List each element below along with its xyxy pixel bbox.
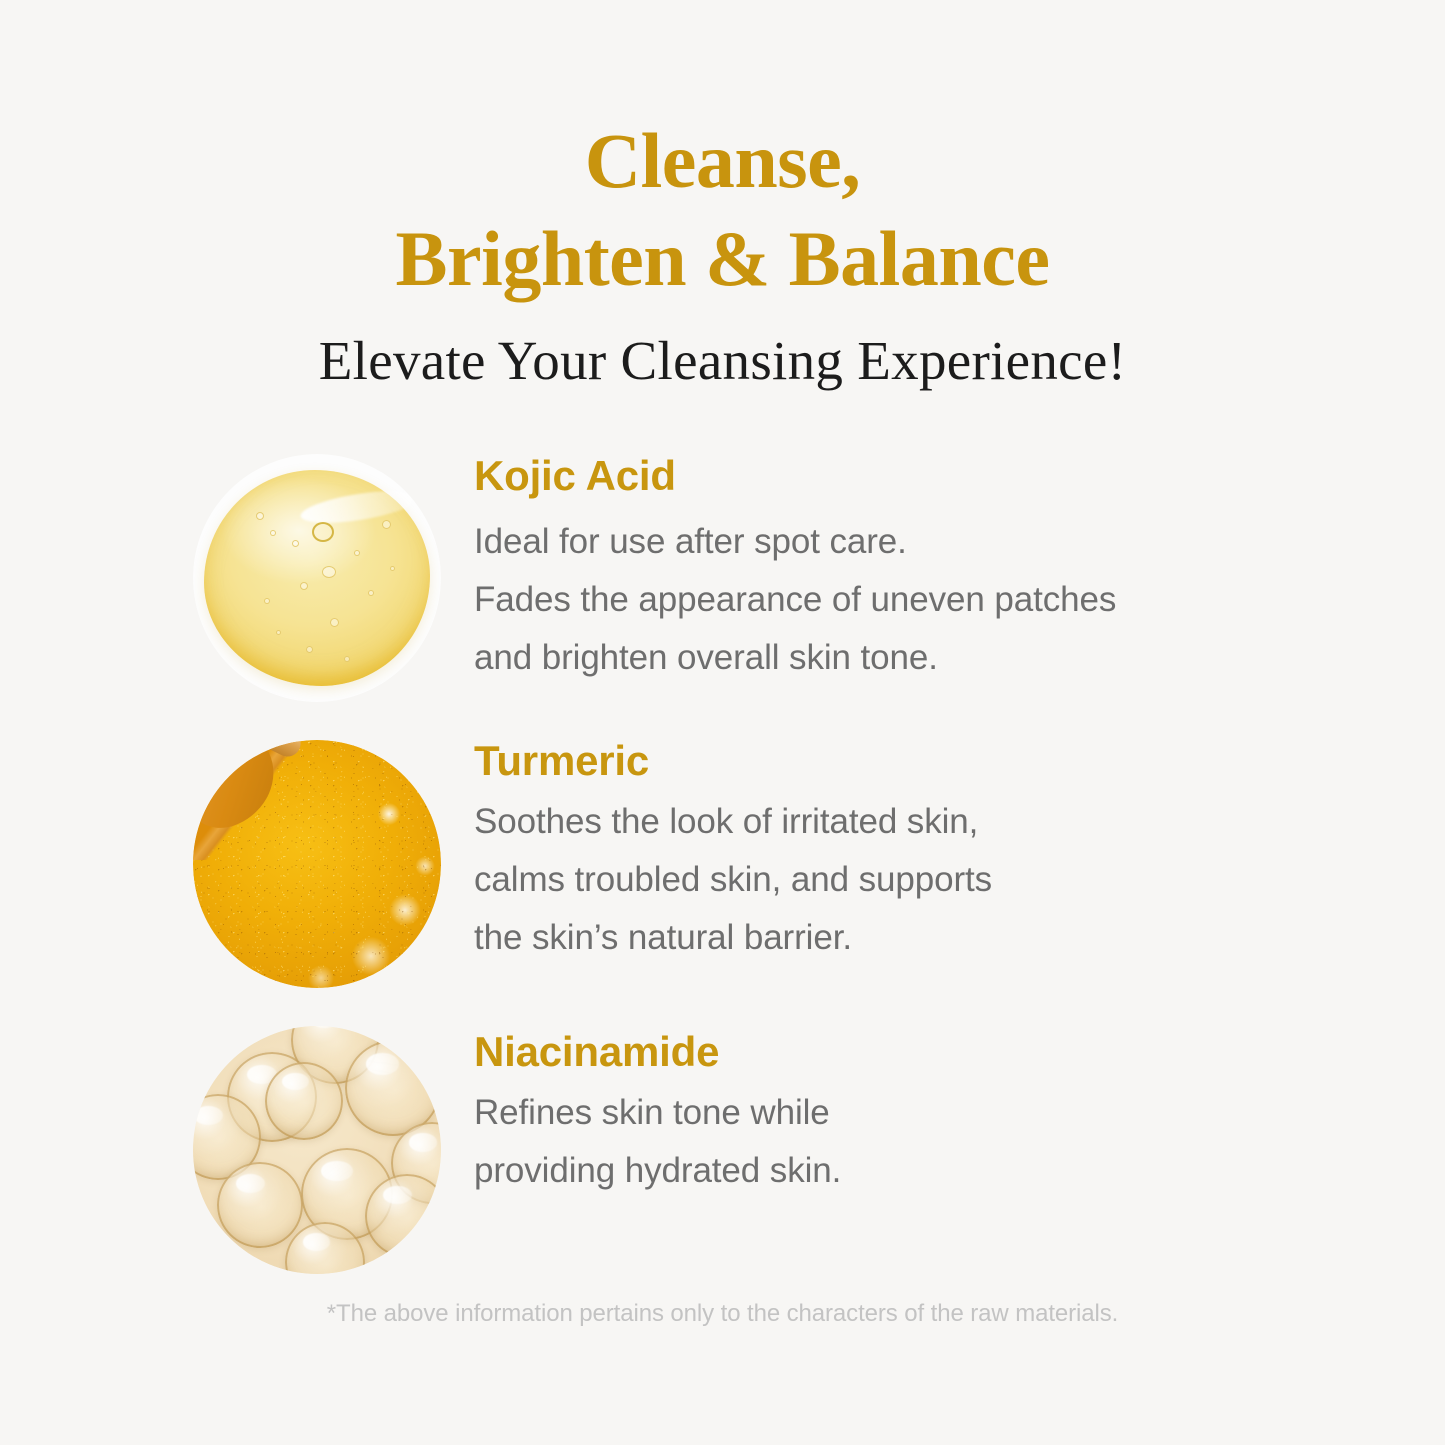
- niacinamide-text-block: Niacinamide Refines skin tone while prov…: [474, 1028, 1304, 1200]
- gel-bubble-icon: [330, 618, 339, 627]
- header-block: Cleanse, Brighten & Balance Elevate Your…: [0, 112, 1445, 391]
- description-line: calms troubled skin, and supports: [474, 851, 1304, 909]
- gel-bubble-icon: [390, 566, 395, 571]
- gel-bubble-icon: [354, 550, 360, 556]
- gel-bubble-icon: [300, 582, 308, 590]
- description-line: and brighten overall skin tone.: [474, 629, 1304, 687]
- gel-bubble-icon: [382, 520, 391, 529]
- kojic-acid-thumb-wrapper: [193, 454, 441, 702]
- description-line: Refines skin tone while: [474, 1084, 1304, 1142]
- gel-blob-shape: [204, 470, 430, 686]
- gel-bubble-icon: [312, 522, 334, 542]
- gel-bubble-icon: [368, 590, 374, 596]
- spoon-bowl: [193, 740, 290, 840]
- gel-bubble-icon: [276, 630, 281, 635]
- ingredient-description-kojic-acid: Ideal for use after spot care. Fades the…: [474, 513, 1304, 687]
- description-line: the skin’s natural barrier.: [474, 909, 1304, 967]
- niacinamide-thumb-wrapper: [193, 1026, 441, 1274]
- ingredient-description-turmeric: Soothes the look of irritated skin, calm…: [474, 793, 1304, 967]
- ingredient-name-kojic-acid: Kojic Acid: [474, 452, 1304, 500]
- gel-bubble-icon: [256, 512, 264, 520]
- gel-bubble-icon: [322, 566, 336, 578]
- gel-bubble-icon: [270, 530, 276, 536]
- kojic-acid-gel-swatch-image: [193, 454, 441, 702]
- description-line: providing hydrated skin.: [474, 1142, 1304, 1200]
- niacinamide-capsules-image: [193, 1026, 441, 1274]
- turmeric-text-block: Turmeric Soothes the look of irritated s…: [474, 737, 1304, 967]
- infographic-page: Cleanse, Brighten & Balance Elevate Your…: [0, 0, 1445, 1445]
- gel-bubble-icon: [292, 540, 299, 547]
- ingredient-row-turmeric: Turmeric Soothes the look of irritated s…: [0, 728, 1445, 1018]
- ingredient-row-kojic-acid: Kojic Acid Ideal for use after spot care…: [0, 440, 1445, 728]
- description-line: Soothes the look of irritated skin,: [474, 793, 1304, 851]
- ingredient-description-niacinamide: Refines skin tone while providing hydrat…: [474, 1084, 1304, 1200]
- footnote-disclaimer: *The above information pertains only to …: [0, 1300, 1445, 1328]
- gel-bubble-icon: [306, 646, 313, 653]
- turmeric-powder-image: [193, 740, 441, 988]
- description-line: Fades the appearance of uneven patches: [474, 571, 1304, 629]
- headline-line-1: Cleanse,: [0, 112, 1445, 210]
- ingredient-row-niacinamide: Niacinamide Refines skin tone while prov…: [0, 1018, 1445, 1268]
- capsule-sphere-icon: [365, 1174, 441, 1258]
- ingredient-name-turmeric: Turmeric: [474, 737, 1304, 785]
- turmeric-thumb-wrapper: [193, 740, 441, 988]
- subheadline: Elevate Your Cleansing Experience!: [0, 331, 1445, 391]
- wooden-spoon-icon: [193, 740, 309, 860]
- capsule-sphere-icon: [265, 1062, 343, 1140]
- capsule-sphere-icon: [217, 1162, 303, 1248]
- gel-bubble-icon: [344, 656, 350, 662]
- description-line: Ideal for use after spot care.: [474, 513, 1304, 571]
- gel-bubble-icon: [264, 598, 270, 604]
- headline-line-2: Brighten & Balance: [0, 210, 1445, 308]
- kojic-acid-text-block: Kojic Acid Ideal for use after spot care…: [474, 452, 1304, 687]
- ingredient-name-niacinamide: Niacinamide: [474, 1028, 1304, 1076]
- ingredient-list: Kojic Acid Ideal for use after spot care…: [0, 440, 1445, 1268]
